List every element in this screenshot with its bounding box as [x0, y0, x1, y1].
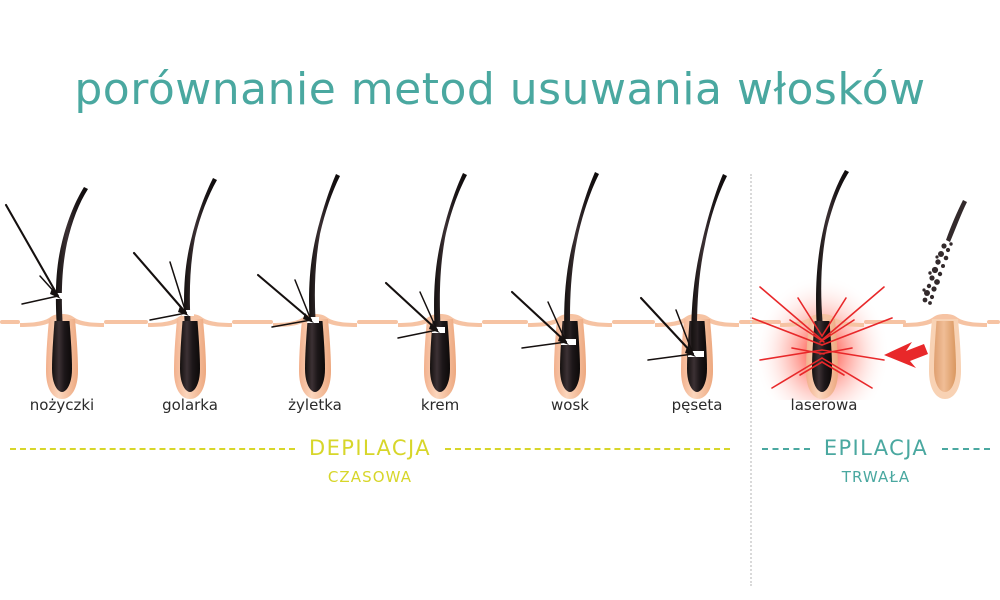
hair-shaft: [434, 173, 467, 326]
hair-shaft: [184, 178, 217, 321]
transformation-arrow-icon: [884, 342, 928, 368]
follicle-diagram-svg: [0, 170, 1000, 400]
follicle-golarka: [134, 178, 232, 399]
legend-epilacja-main: EPILACJA: [762, 438, 990, 459]
legend-depilacja-main: DEPILACJA: [10, 438, 730, 459]
scissors-icon: [386, 283, 440, 338]
method-label-wosk: wosk: [551, 396, 589, 414]
legend-subtitle-czasowa: CZASOWA: [328, 468, 412, 486]
follicle-zyletka: [258, 174, 357, 399]
follicle-wosk: [512, 172, 612, 399]
page-title: porównanie metod usuwania włosków: [0, 64, 1000, 115]
follicle-nozyczki: [6, 187, 104, 399]
hair-shaft: [56, 187, 88, 321]
method-label-peseta: pęseta: [672, 396, 723, 414]
legend-dash-right: [942, 448, 990, 450]
legend-title-epilacja: EPILACJA: [810, 438, 942, 459]
follicle-result-empty: [903, 200, 987, 399]
method-label-golarka: golarka: [162, 396, 218, 414]
method-label-laserowa: laserowa: [791, 396, 858, 414]
legend-row: DEPILACJA CZASOWA EPILACJA TRWAŁA: [0, 438, 1000, 508]
method-label-krem: krem: [421, 396, 459, 414]
hair-shaft: [564, 172, 599, 340]
follicle-laserowa: [752, 170, 892, 400]
scissors-icon: [258, 275, 314, 327]
method-label-zyletka: żyletka: [288, 396, 342, 414]
legend-subtitle-trwala: TRWAŁA: [842, 468, 911, 486]
follicle-krem: [386, 173, 482, 399]
scissors-icon: [6, 205, 61, 304]
illustration-stage: [0, 170, 1000, 400]
destroyed-hair: [922, 200, 967, 305]
section-divider: [750, 174, 752, 586]
hair-shaft: [309, 174, 340, 319]
legend-group-depilacja: DEPILACJA CZASOWA: [10, 438, 730, 486]
legend-dash-left: [762, 448, 810, 450]
empty-follicle-cavity: [934, 321, 956, 392]
legend-title-depilacja: DEPILACJA: [295, 438, 445, 459]
scissors-icon: [134, 253, 189, 320]
legend-dash-right: [445, 448, 730, 450]
method-label-nozyczki: nożyczki: [30, 396, 94, 414]
legend-dash-left: [10, 448, 295, 450]
legend-group-epilacja: EPILACJA TRWAŁA: [762, 438, 990, 486]
infographic-root: porównanie metod usuwania włosków: [0, 0, 1000, 600]
follicle-peseta: [641, 174, 739, 399]
